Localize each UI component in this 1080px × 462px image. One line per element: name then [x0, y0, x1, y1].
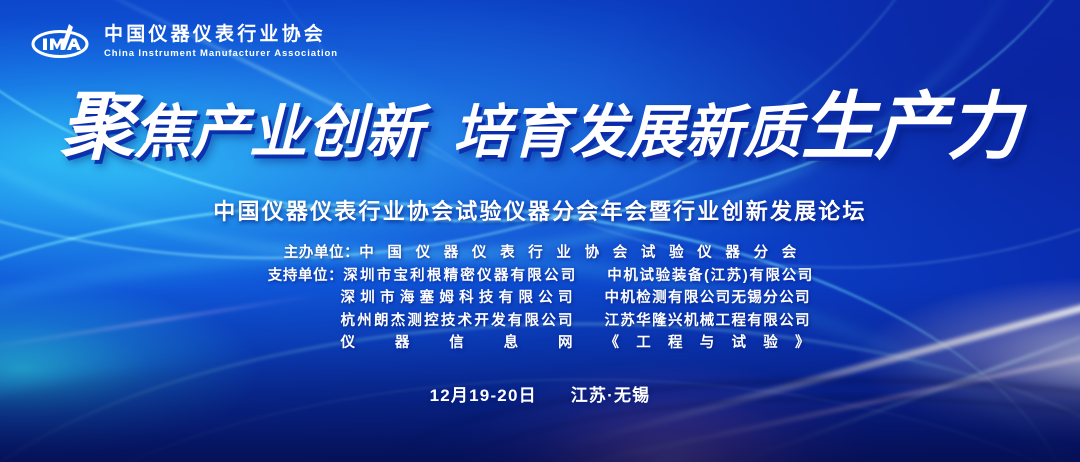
- main-title: 聚 焦产业创新 培育发展新质 生产力: [0, 92, 1080, 162]
- ima-oval-logo-icon: [30, 22, 92, 62]
- association-name-en: China Instrument Manufacturer Associatio…: [104, 48, 338, 60]
- support-right-3: 江苏华隆兴机械工程有限公司: [605, 311, 810, 332]
- host-label: 主办单位：: [284, 243, 360, 264]
- title-part-2-emphasis: 生产力: [801, 92, 1020, 162]
- main-title-line: 聚 焦产业创新 培育发展新质 生产力: [60, 92, 1020, 162]
- support-left-2: 深圳市海塞姆科技有限公司: [341, 288, 573, 309]
- organizer-row-host: 主办单位： 中国仪器仪表行业协会试验仪器分会: [284, 243, 797, 264]
- support-left-1: 深圳市宝利根精密仪器有限公司: [343, 266, 575, 287]
- support-right-1: 中机试验装备(江苏)有限公司: [607, 266, 812, 287]
- date-location-bar: 12月19-20日 江苏·无锡: [0, 381, 1080, 406]
- title-part-1-rest: 焦产业创新: [133, 105, 423, 160]
- support-right-2: 中机检测有限公司无锡分公司: [605, 288, 810, 309]
- organizer-row-support-2: 深圳市海塞姆科技有限公司 中机检测有限公司无锡分公司: [271, 288, 810, 309]
- light-ray-cyan-2: [756, 441, 1080, 462]
- association-name-cn: 中国仪器仪表行业协会: [104, 24, 338, 46]
- association-logo-block: 中国仪器仪表行业协会 China Instrument Manufacturer…: [30, 22, 338, 62]
- host-value: 中国仪器仪表行业协会试验仪器分会: [359, 243, 796, 264]
- support-left-3: 杭州朗杰测控技术开发有限公司: [341, 311, 573, 332]
- title-part-2-rest: 培育发展新质: [453, 105, 801, 160]
- organizer-row-support-1: 支持单位： 深圳市宝利根精密仪器有限公司 中机试验装备(江苏)有限公司: [268, 266, 813, 287]
- organizer-row-support-3: 杭州朗杰测控技术开发有限公司 江苏华隆兴机械工程有限公司: [271, 311, 810, 332]
- conference-poster: 中国仪器仪表行业协会 China Instrument Manufacturer…: [0, 0, 1080, 462]
- background-dark-band-3: [432, 397, 1080, 462]
- event-subtitle: 中国仪器仪表行业协会试验仪器分会年会暨行业创新发展论坛: [0, 194, 1080, 226]
- support-label: 支持单位：: [268, 266, 344, 287]
- title-part-1-emphasis: 聚: [60, 92, 133, 162]
- support-left-4: 仪器信息网: [341, 333, 573, 354]
- event-location: 江苏·无锡: [571, 386, 651, 405]
- event-date: 12月19-20日: [430, 386, 537, 405]
- organizer-block: 主办单位： 中国仪器仪表行业协会试验仪器分会 支持单位： 深圳市宝利根精密仪器有…: [0, 243, 1080, 354]
- association-name-block: 中国仪器仪表行业协会 China Instrument Manufacturer…: [104, 24, 338, 60]
- organizer-row-support-4: 仪器信息网 《工程与试验》: [271, 333, 810, 354]
- support-right-4: 《工程与试验》: [605, 333, 810, 354]
